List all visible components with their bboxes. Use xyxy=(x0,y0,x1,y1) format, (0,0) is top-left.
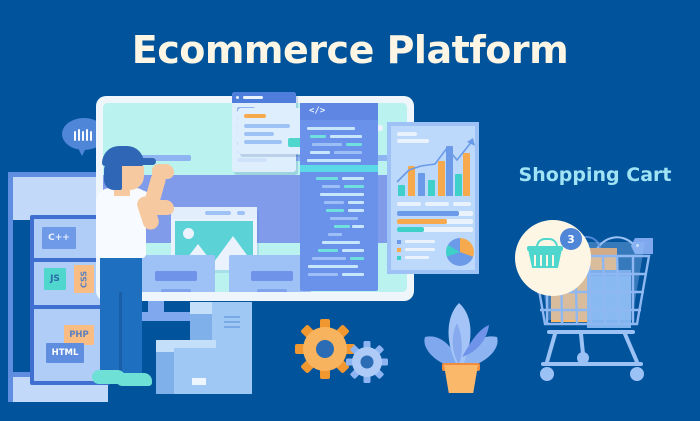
code-line xyxy=(322,241,360,244)
potted-plant xyxy=(415,295,505,400)
code-line xyxy=(352,225,364,228)
dialog-text-line xyxy=(244,132,274,136)
person-shoe-right xyxy=(116,373,152,386)
basket-slot xyxy=(552,255,554,266)
progress-fill-blue xyxy=(397,211,459,216)
code-line xyxy=(334,151,362,154)
legend-swatch-teal xyxy=(397,256,401,260)
code-line xyxy=(342,177,364,180)
chart-trend-line xyxy=(395,136,477,192)
person-hand-upper xyxy=(152,164,174,179)
shopping-cart-illustration: 3 xyxy=(515,230,665,390)
code-line xyxy=(307,159,361,162)
cart-item-count: 3 xyxy=(560,228,582,250)
dialog-text-line xyxy=(244,140,282,144)
dialog-menu-dot-icon xyxy=(236,96,239,99)
dialog-accent-line xyxy=(244,114,266,118)
code-line xyxy=(318,249,338,252)
code-line xyxy=(312,143,342,146)
box-top-flap xyxy=(190,302,212,314)
progress-fill-orange xyxy=(397,219,447,224)
legend-label-bar xyxy=(405,256,429,259)
code-line xyxy=(350,257,364,260)
badge-cpp[interactable]: C++ xyxy=(42,227,76,249)
code-line xyxy=(310,151,330,154)
person-cap-brim xyxy=(136,158,156,165)
basket-slot xyxy=(546,255,548,266)
speech-bubble-bar xyxy=(86,129,88,141)
code-line xyxy=(320,193,364,196)
content-card-subtitle xyxy=(257,289,287,292)
speech-bubble-bar xyxy=(82,131,84,141)
page-title: Ecommerce Platform xyxy=(0,28,700,72)
box-label-line xyxy=(224,316,240,318)
dashboard-surface xyxy=(391,126,475,270)
code-tag-icon: </> xyxy=(309,106,325,116)
speech-bubble-bar xyxy=(90,131,92,141)
legend-swatch-orange xyxy=(397,248,401,252)
person-character xyxy=(78,142,183,397)
illustration-canvas: Ecommerce Platform Shopping Cart C++ JS … xyxy=(0,0,700,421)
code-line xyxy=(342,249,364,252)
basket-slot xyxy=(534,255,536,266)
code-line xyxy=(316,177,338,180)
basket-slot xyxy=(540,255,542,266)
code-line-highlight[interactable] xyxy=(300,165,378,172)
gear-icon-blue xyxy=(345,340,389,384)
media-card-title-bar xyxy=(205,211,231,215)
dashboard-divider-label xyxy=(397,202,421,206)
dialog-title-bar xyxy=(243,96,263,99)
analytics-dashboard-panel[interactable] xyxy=(387,122,479,274)
code-line xyxy=(308,273,338,276)
cart-count-badge-circle[interactable]: 3 xyxy=(515,220,591,296)
code-line xyxy=(348,201,364,204)
box-label-line xyxy=(224,321,240,323)
legend-label-bar xyxy=(405,240,435,243)
code-line xyxy=(342,273,364,276)
code-line xyxy=(322,185,340,188)
plant-pot xyxy=(444,365,478,393)
code-line xyxy=(334,225,350,228)
person-leg-gap xyxy=(119,292,122,374)
code-line xyxy=(328,233,342,236)
dashboard-divider-label xyxy=(425,202,449,206)
code-line xyxy=(326,209,344,212)
code-editor-panel[interactable]: </> xyxy=(300,103,378,291)
box-label-line xyxy=(224,326,240,328)
dialog-text-line xyxy=(244,124,290,128)
code-line xyxy=(307,127,355,130)
speech-bubble-bar xyxy=(78,129,80,141)
sun-icon xyxy=(183,228,194,239)
dialog-field xyxy=(237,158,267,162)
code-line xyxy=(344,185,364,188)
code-line xyxy=(348,209,364,212)
badge-js[interactable]: JS xyxy=(44,268,66,290)
dialog-titlebar xyxy=(232,92,296,103)
distribution-pie-chart xyxy=(446,238,474,266)
person-hand-lower xyxy=(150,200,174,215)
code-line xyxy=(330,135,362,138)
dashboard-divider-label xyxy=(453,202,471,206)
wall-vertical-post xyxy=(8,176,13,402)
progress-fill-teal xyxy=(397,227,424,232)
media-card-titlebar xyxy=(171,207,257,219)
code-line xyxy=(346,143,362,146)
code-line xyxy=(330,217,358,220)
code-line xyxy=(310,135,326,138)
shopping-basket-icon xyxy=(528,242,562,268)
box-shipping-label xyxy=(192,378,206,385)
shopping-cart-label: Shopping Cart xyxy=(510,164,680,186)
speech-bubble-bar xyxy=(74,131,76,141)
media-card-close-dot xyxy=(237,211,245,215)
legend-swatch-blue xyxy=(397,240,401,244)
code-line xyxy=(312,257,346,260)
content-card-title xyxy=(251,271,293,281)
code-line xyxy=(324,201,344,204)
code-line xyxy=(308,265,358,268)
legend-label-bar xyxy=(405,248,435,251)
